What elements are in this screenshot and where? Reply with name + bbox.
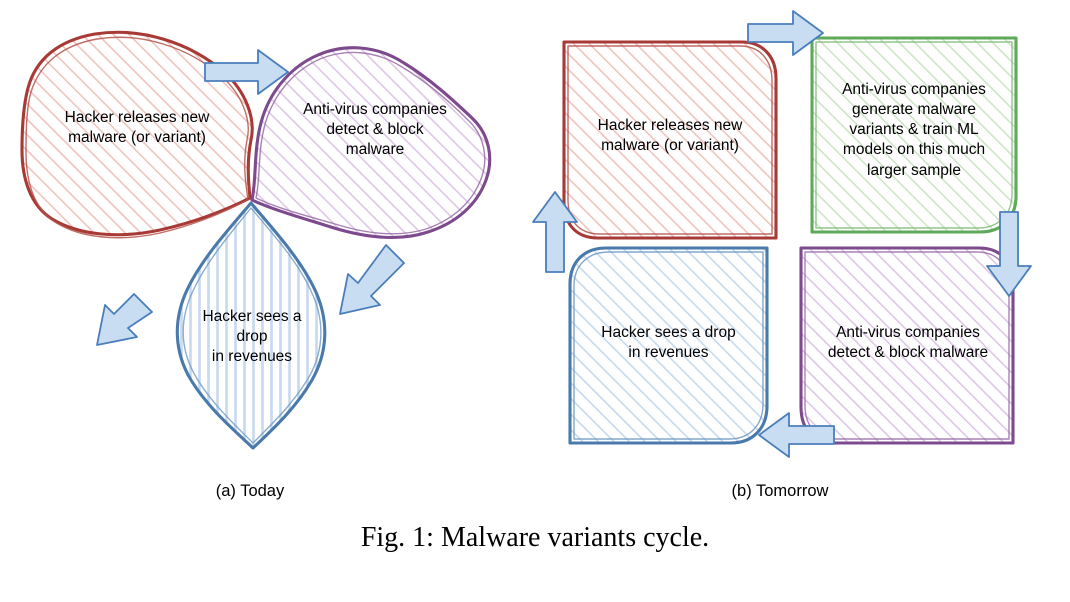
figure-caption: Fig. 1: Malware variants cycle. xyxy=(0,522,1070,554)
panel-caption-today: (a) Today xyxy=(160,482,340,501)
diagram-canvas xyxy=(0,0,1070,602)
shape-tomorrow-revenue-drop xyxy=(570,248,767,443)
panel-caption-tomorrow: (b) Tomorrow xyxy=(690,482,870,501)
shape-tomorrow-av-detect xyxy=(801,248,1013,443)
figure-malware-variants-cycle: Hacker releases new malware (or variant)… xyxy=(0,0,1070,602)
arrow-today-revenue-to-release xyxy=(97,294,152,345)
shape-tomorrow-hacker-releases xyxy=(564,42,776,238)
shape-today-av-detect xyxy=(252,48,490,238)
arrow-today-detect-to-revenue xyxy=(340,245,404,314)
shape-tomorrow-av-generate xyxy=(812,38,1016,232)
shape-today-revenue-drop xyxy=(177,203,325,448)
